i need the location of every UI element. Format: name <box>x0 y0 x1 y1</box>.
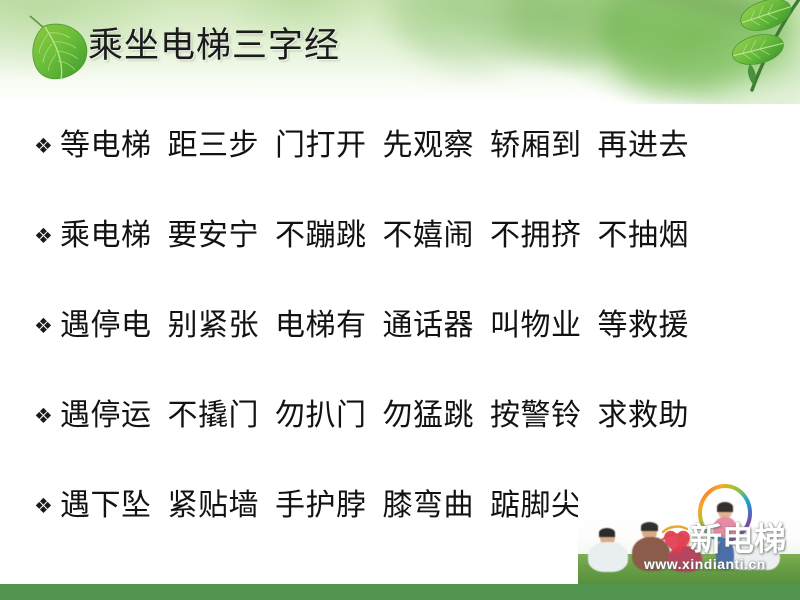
diamond-bullet-icon: ❖ <box>34 316 60 337</box>
verse-phrase: 不撬门 <box>168 397 260 435</box>
person-hair <box>641 522 658 531</box>
diamond-bullet-icon: ❖ <box>34 136 60 157</box>
verse-phrase: 遇停运 <box>60 397 152 435</box>
verse-phrase: 踮脚尖 <box>490 487 582 525</box>
verse-phrase: 求救助 <box>598 397 690 435</box>
family-on-grass-photo: 新电梯 www.xindianti.cn <box>578 480 800 584</box>
slide-canvas: 乘坐电梯三字经 ❖ 等电梯距三步门打开先观察轿厢到再进去 ❖ 乘电梯要安宁不蹦跳… <box>0 0 800 600</box>
leaf-branch-icon <box>700 0 800 98</box>
person-hair <box>599 528 615 537</box>
diamond-bullet-icon: ❖ <box>34 496 60 517</box>
diamond-bullet-icon: ❖ <box>34 406 60 427</box>
verse-phrase: 膝弯曲 <box>383 487 475 525</box>
verse-phrase: 勿猛跳 <box>383 397 475 435</box>
verse-phrase: 别紧张 <box>168 307 260 345</box>
verse-phrase: 手护脖 <box>275 487 367 525</box>
verse-phrase: 通话器 <box>383 307 475 345</box>
verse-phrase: 再进去 <box>598 127 690 165</box>
verse-phrase: 按警铃 <box>490 397 582 435</box>
page-title: 乘坐电梯三字经 <box>88 23 340 69</box>
verse-line-4: 遇停运不撬门勿扒门勿猛跳按警铃求救助 <box>60 397 689 435</box>
verse-line-1: 等电梯距三步门打开先观察轿厢到再进去 <box>60 127 689 165</box>
verse-phrase: 叫物业 <box>490 307 582 345</box>
verse-phrase: 电梯有 <box>275 307 367 345</box>
verse-phrase: 不蹦跳 <box>275 217 367 255</box>
person-body <box>588 542 628 572</box>
verse-phrase: 距三步 <box>168 127 260 165</box>
verse-phrase: 等电梯 <box>60 127 152 165</box>
verse-phrase: 不抽烟 <box>598 217 690 255</box>
verse-phrase: 勿扒门 <box>275 397 367 435</box>
watermark-brand: 新电梯 <box>690 522 786 556</box>
verse-phrase: 遇停电 <box>60 307 152 345</box>
verse-phrase: 紧贴墙 <box>168 487 260 525</box>
verse-phrase: 等救援 <box>598 307 690 345</box>
watermark-url: www.xindianti.cn <box>644 556 766 572</box>
verse-line-5: 遇下坠紧贴墙手护脖膝弯曲踮脚尖 <box>60 487 582 525</box>
verse-line-3: 遇停电别紧张电梯有通话器叫物业等救援 <box>60 307 689 345</box>
verse-phrase: 要安宁 <box>168 217 260 255</box>
verse-phrase: 乘电梯 <box>60 217 152 255</box>
verse-phrase: 先观察 <box>383 127 475 165</box>
verse-phrase: 门打开 <box>275 127 367 165</box>
verse-phrase: 不嬉闹 <box>383 217 475 255</box>
verse-phrase: 不拥挤 <box>490 217 582 255</box>
verse-phrase: 遇下坠 <box>60 487 152 525</box>
diamond-bullet-icon: ❖ <box>34 226 60 247</box>
verse-phrase: 轿厢到 <box>490 127 582 165</box>
list-item: ❖ 等电梯距三步门打开先观察轿厢到再进去 <box>34 101 774 191</box>
leaf-icon <box>14 10 98 90</box>
list-item: ❖ 遇停电别紧张电梯有通话器叫物业等救援 <box>34 281 774 371</box>
bottom-accent-bar <box>0 584 800 600</box>
list-item: ❖ 遇停运不撬门勿扒门勿猛跳按警铃求救助 <box>34 371 774 461</box>
list-item: ❖ 乘电梯要安宁不蹦跳不嬉闹不拥挤不抽烟 <box>34 191 774 281</box>
verse-line-2: 乘电梯要安宁不蹦跳不嬉闹不拥挤不抽烟 <box>60 217 689 255</box>
heart-logo-icon <box>660 524 694 558</box>
